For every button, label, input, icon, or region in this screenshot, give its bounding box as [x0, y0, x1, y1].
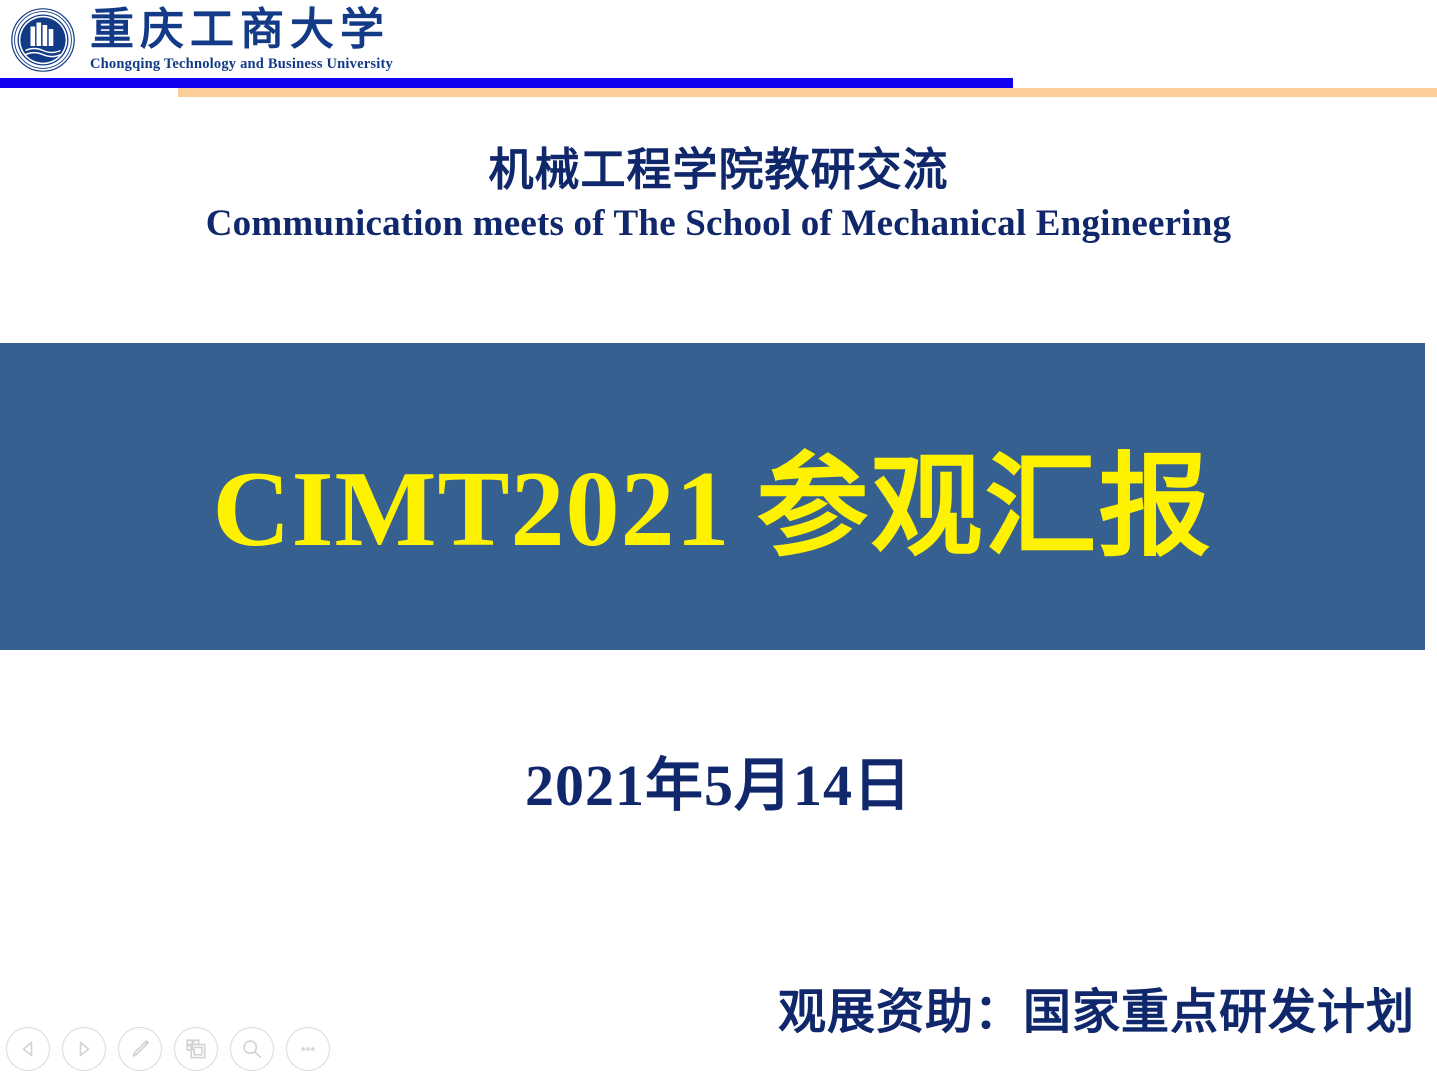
presentation-slide: 重庆工商大学 Chongqing Technology and Business…	[0, 0, 1437, 1075]
zoom-button[interactable]	[230, 1027, 274, 1071]
meeting-heading: 机械工程学院教研交流 Communication meets of The Sc…	[0, 146, 1437, 247]
presentation-date: 2021年5月14日	[0, 738, 1437, 822]
title-latin: CIMT2021	[213, 448, 731, 572]
meeting-heading-cn: 机械工程学院教研交流	[0, 146, 1437, 195]
triangle-right-icon	[73, 1038, 95, 1060]
pen-annotate-button[interactable]	[118, 1027, 162, 1071]
meeting-heading-en: Communication meets of The School of Mec…	[0, 201, 1437, 247]
pen-icon	[128, 1037, 152, 1061]
title-cjk: 参观汇报	[757, 416, 1213, 578]
university-wordmark: 重庆工商大学 Chongqing Technology and Business…	[90, 8, 393, 72]
slide-overview-button[interactable]	[174, 1027, 218, 1071]
university-branding: 重庆工商大学 Chongqing Technology and Business…	[10, 4, 393, 76]
presenter-toolbar	[6, 1027, 330, 1071]
header-rule-orange	[178, 88, 1437, 97]
university-name-cn: 重庆工商大学	[90, 8, 393, 52]
university-name-en: Chongqing Technology and Business Univer…	[90, 57, 393, 72]
next-slide-button[interactable]	[62, 1027, 106, 1071]
previous-slide-button[interactable]	[6, 1027, 50, 1071]
magnifier-icon	[240, 1037, 264, 1061]
header-rule-blue	[0, 78, 1013, 88]
triangle-left-icon	[17, 1038, 39, 1060]
ellipsis-icon	[296, 1037, 320, 1061]
more-options-button[interactable]	[286, 1027, 330, 1071]
slide-grid-icon	[184, 1037, 208, 1061]
sponsor-note: 观展资助：国家重点研发计划	[778, 972, 1415, 1042]
university-seal-icon	[10, 7, 76, 73]
title-banner: CIMT2021 参观汇报	[0, 343, 1425, 650]
title-line: CIMT2021 参观汇报	[213, 416, 1213, 578]
